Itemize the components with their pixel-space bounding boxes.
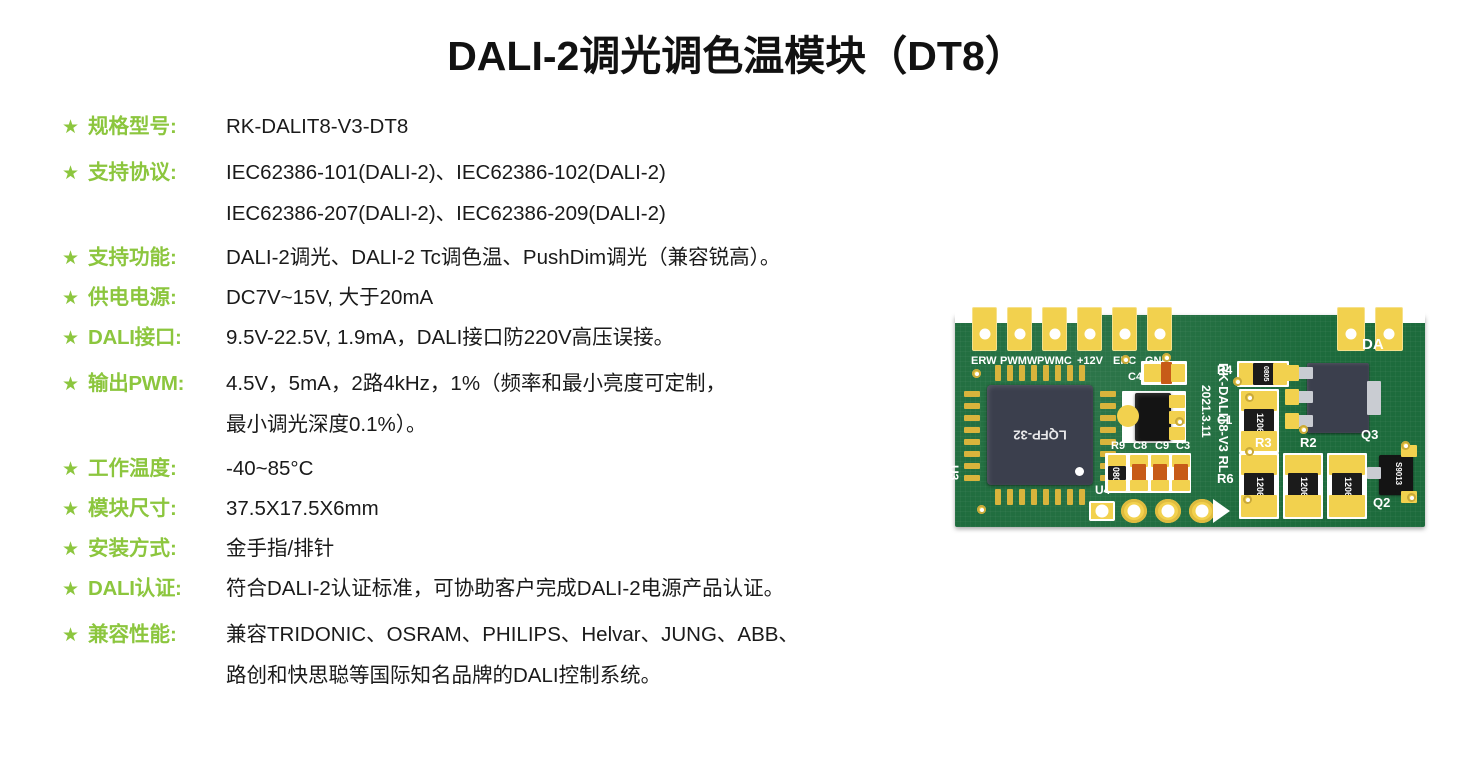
designator-r4: R4: [1217, 363, 1232, 377]
regulator-tab-pad: [1117, 405, 1139, 427]
via: [1407, 493, 1416, 502]
spec-line: 金手指/排针: [226, 534, 962, 564]
page-title: DALI-2调光调色温模块（DT8）: [0, 22, 1473, 82]
designator-r2: R2: [1300, 435, 1317, 450]
star-icon: ★: [62, 614, 88, 656]
r9-pad-top: [1108, 455, 1126, 466]
via: [1243, 495, 1252, 504]
gold-finger-2: [1007, 307, 1032, 351]
designator-q3: Q3: [1361, 427, 1378, 442]
finger-hole: [1014, 329, 1025, 340]
spec-row-compatibility: ★ 兼容性能: 兼容TRIDONIC、OSRAM、PHILIPS、Helvar、…: [62, 614, 962, 696]
finger-hole: [1084, 329, 1095, 340]
via: [1299, 425, 1308, 434]
spec-value-dali-interface: 9.5V-22.5V, 1.9mA，DALI接口防220V高压误接。: [226, 323, 962, 353]
spec-line: 9.5V-22.5V, 1.9mA，DALI接口防220V高压误接。: [226, 323, 962, 353]
via: [977, 505, 986, 514]
resistor-r9: 0805: [1108, 466, 1126, 480]
pin-label-erw: ERW: [971, 355, 996, 367]
spec-line: 符合DALI-2认证标准，可协助客户完成DALI-2电源产品认证。: [226, 574, 962, 604]
gold-finger-1: [972, 307, 997, 351]
spec-label-temperature: 工作温度:: [88, 454, 226, 484]
r4-code: 0805: [1262, 366, 1269, 382]
q3-pad-3: [1285, 413, 1299, 429]
q2-code: S9013: [1394, 462, 1403, 485]
star-icon: ★: [62, 574, 88, 605]
spec-label-protocol: 支持协议:: [88, 152, 226, 193]
star-icon: ★: [62, 283, 88, 314]
spec-label-dimensions: 模块尺寸:: [88, 494, 226, 524]
spec-label-dali-interface: DALI接口:: [88, 323, 226, 353]
r2-pad-bottom: [1329, 495, 1365, 517]
chip-pin1-dot: [1075, 467, 1084, 476]
r3-pad-top: [1285, 455, 1321, 475]
spec-line: RK-DALIT8-V3-DT8: [226, 112, 962, 142]
spec-line: IEC62386-207(DALI-2)、IEC62386-209(DALI-2…: [226, 193, 962, 234]
via: [1245, 447, 1254, 456]
lqfp32-chip: LQFP-32: [987, 385, 1093, 485]
gold-finger-5: [1112, 307, 1137, 351]
finger-hole: [1346, 329, 1357, 340]
via: [1121, 355, 1130, 364]
test-pad-3: [1155, 499, 1181, 523]
test-pad-1: [1089, 501, 1115, 521]
spec-row-certification: ★ DALI认证: 符合DALI-2认证标准，可协助客户完成DALI-2电源产品…: [62, 574, 962, 605]
spec-row-pwm-output: ★ 输出PWM: 4.5V，5mA，2路4kHz，1%（频率和最小亮度可定制， …: [62, 363, 962, 445]
gold-finger-da-1: [1337, 307, 1365, 351]
spec-row-power: ★ 供电电源: DC7V~15V, 大于20mA: [62, 283, 962, 314]
spec-line: DALI-2调光、DALI-2 Tc调色温、PushDim调光（兼容锐高）。: [226, 243, 962, 273]
star-icon: ★: [62, 112, 88, 143]
regulator-pin-1: [1169, 395, 1185, 408]
designator-c4: C4: [1128, 371, 1142, 383]
gold-finger-3: [1042, 307, 1067, 351]
spec-label-certification: DALI认证:: [88, 574, 226, 604]
via: [1175, 417, 1184, 426]
q3-pad-1: [1285, 365, 1299, 381]
spec-label-function: 支持功能:: [88, 243, 226, 273]
spec-label-compatibility: 兼容性能:: [88, 614, 226, 655]
star-icon: ★: [62, 534, 88, 565]
c3-pad-bottom: [1172, 480, 1190, 491]
designator-r6: R6: [1217, 471, 1234, 486]
transistor-q2: S9013: [1379, 455, 1413, 495]
resistor-r4: 0805: [1253, 363, 1275, 385]
c4-pad-right: [1171, 364, 1185, 382]
designator-c1: C1: [1217, 413, 1232, 427]
c4-pad-left: [1144, 364, 1161, 382]
spec-line: -40~85°C: [226, 454, 962, 484]
c9-pad-bottom: [1151, 480, 1169, 491]
spec-line: 最小调光深度0.1%）。: [226, 404, 962, 445]
q2-pin-left: [1367, 467, 1381, 479]
spec-row-function: ★ 支持功能: DALI-2调光、DALI-2 Tc调色温、PushDim调光（…: [62, 243, 962, 274]
spec-row-dali-interface: ★ DALI接口: 9.5V-22.5V, 1.9mA，DALI接口防220V高…: [62, 323, 962, 354]
spec-value-compatibility: 兼容TRIDONIC、OSRAM、PHILIPS、Helvar、JUNG、ABB…: [226, 614, 962, 696]
gold-finger-4: [1077, 307, 1102, 351]
pin-label-da: DA: [1362, 336, 1384, 353]
spec-value-model: RK-DALIT8-V3-DT8: [226, 112, 962, 142]
via: [972, 369, 981, 378]
spec-line: IEC62386-101(DALI-2)、IEC62386-102(DALI-2…: [226, 152, 962, 193]
designator-c3: C3: [1176, 440, 1190, 452]
q3-pad-2: [1285, 389, 1299, 405]
designator-r3: R3: [1255, 435, 1272, 450]
star-icon: ★: [62, 323, 88, 354]
spec-value-function: DALI-2调光、DALI-2 Tc调色温、PushDim调光（兼容锐高）。: [226, 243, 962, 273]
gold-finger-6: [1147, 307, 1172, 351]
regulator-pin-3: [1169, 427, 1185, 440]
spec-label-model: 规格型号:: [88, 112, 226, 142]
spec-value-certification: 符合DALI-2认证标准，可协助客户完成DALI-2电源产品认证。: [226, 574, 962, 604]
spec-label-power: 供电电源:: [88, 283, 226, 313]
star-icon: ★: [62, 363, 88, 405]
designator-c8: C8: [1133, 440, 1147, 452]
r6-pad-top: [1241, 455, 1277, 475]
spec-line: 37.5X17.5X6mm: [226, 494, 962, 524]
designator-u3: U3: [947, 465, 961, 480]
via: [1401, 441, 1410, 450]
product-spec-page: DALI-2调光调色温模块（DT8） ★ 规格型号: RK-DALIT8-V3-…: [0, 0, 1473, 783]
test-pad-2: [1121, 499, 1147, 523]
spec-line: 4.5V，5mA，2路4kHz，1%（频率和最小亮度可定制，: [226, 363, 962, 404]
spec-value-protocol: IEC62386-101(DALI-2)、IEC62386-102(DALI-2…: [226, 152, 962, 234]
r9-pad-bottom: [1108, 480, 1126, 491]
r3-pad-bottom: [1285, 495, 1321, 517]
finger-hole: [1119, 329, 1130, 340]
spec-line: DC7V~15V, 大于20mA: [226, 283, 962, 313]
spec-label-mounting: 安装方式:: [88, 534, 226, 564]
chip-label: LQFP-32: [1013, 428, 1066, 443]
via: [1162, 353, 1171, 362]
via: [1233, 377, 1242, 386]
star-icon: ★: [62, 454, 88, 485]
spec-value-mounting: 金手指/排针: [226, 534, 962, 564]
transistor-q3: [1307, 363, 1369, 433]
r2-pad-top: [1329, 455, 1365, 475]
finger-hole: [1384, 329, 1395, 340]
star-icon: ★: [62, 152, 88, 194]
polarity-arrow-icon: [1213, 499, 1230, 523]
finger-hole: [979, 329, 990, 340]
silk-board-date: 2021.3.11: [1199, 385, 1213, 438]
voltage-regulator-sot223: [1135, 393, 1171, 441]
spec-row-dimensions: ★ 模块尺寸: 37.5X17.5X6mm: [62, 494, 962, 525]
spec-line: 兼容TRIDONIC、OSRAM、PHILIPS、Helvar、JUNG、ABB…: [226, 614, 962, 655]
spec-value-temperature: -40~85°C: [226, 454, 962, 484]
via: [1245, 393, 1254, 402]
finger-hole: [1154, 329, 1165, 340]
pcb-module-image: ERW PWMW PWMC +12V ERC GND DA RK-DALIT8-…: [955, 305, 1440, 545]
designator-r9: R9: [1111, 440, 1125, 452]
spec-row-protocol: ★ 支持协议: IEC62386-101(DALI-2)、IEC62386-10…: [62, 152, 962, 234]
designator-c9: C9: [1155, 440, 1169, 452]
spec-row-model: ★ 规格型号: RK-DALIT8-V3-DT8: [62, 112, 962, 143]
c8-pad-bottom: [1130, 480, 1148, 491]
spec-label-pwm-output: 输出PWM:: [88, 363, 226, 404]
spec-row-mounting: ★ 安装方式: 金手指/排针: [62, 534, 962, 565]
star-icon: ★: [62, 494, 88, 525]
spec-row-temperature: ★ 工作温度: -40~85°C: [62, 454, 962, 485]
finger-hole: [1049, 329, 1060, 340]
designator-q2: Q2: [1373, 495, 1390, 510]
q3-tab: [1367, 381, 1381, 415]
test-pad-4: [1189, 499, 1215, 523]
spec-value-dimensions: 37.5X17.5X6mm: [226, 494, 962, 524]
spec-line: 路创和快思聪等国际知名品牌的DALI控制系统。: [226, 655, 962, 696]
specification-list: ★ 规格型号: RK-DALIT8-V3-DT8 ★ 支持协议: IEC6238…: [62, 112, 962, 705]
spec-value-power: DC7V~15V, 大于20mA: [226, 283, 962, 313]
star-icon: ★: [62, 243, 88, 274]
spec-value-pwm-output: 4.5V，5mA，2路4kHz，1%（频率和最小亮度可定制， 最小调光深度0.1…: [226, 363, 962, 445]
